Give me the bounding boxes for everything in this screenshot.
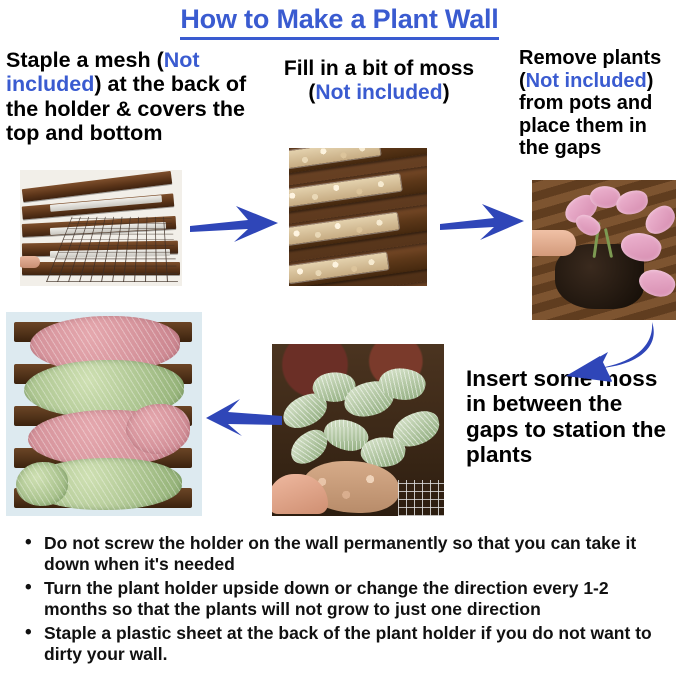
list-item: Do not screw the holder on the wall perm… [44,533,666,575]
step-2-caption: Fill in a bit of moss (Not included) [268,57,490,104]
thumb-illustration [20,256,40,268]
mesh-holder-illustration [20,170,182,286]
step-4-photo [272,344,444,516]
arrow-step1-to-step2-icon [186,200,282,248]
list-item: Staple a plastic sheet at the back of th… [44,623,666,665]
infographic-page: How to Make a Plant Wall Staple a mesh (… [0,0,679,680]
finished-plant-wall-photo [6,312,202,516]
step-1-photo [20,170,182,286]
step-2-photo [289,148,427,286]
step-3-photo [532,180,676,320]
plant-placement-illustration [532,180,676,320]
moss-slats-illustration [289,148,427,286]
tips-list: Do not screw the holder on the wall perm… [18,533,666,668]
list-item: Turn the plant holder upside down or cha… [44,578,666,620]
finger-illustration [532,230,576,256]
step-2-caption-part-2: Not included [315,81,442,104]
step-1-caption-part-1: Staple a mesh ( [6,48,164,72]
page-title-text: How to Make a Plant Wall [180,4,498,40]
arrow-step3-to-step4-icon [556,318,660,384]
step-3-caption: Remove plants (Not included) from pots a… [519,47,679,160]
step-2-caption-part-3: ) [443,81,450,104]
step-3-caption-part-2: Not included [526,70,647,92]
page-title: How to Make a Plant Wall [0,4,679,40]
wire-mesh-edge [398,480,444,516]
step-1-caption: Staple a mesh (Not included) at the back… [6,48,258,145]
arrow-step4-to-result-icon [204,394,286,444]
arrow-step2-to-step3-icon [436,198,528,246]
